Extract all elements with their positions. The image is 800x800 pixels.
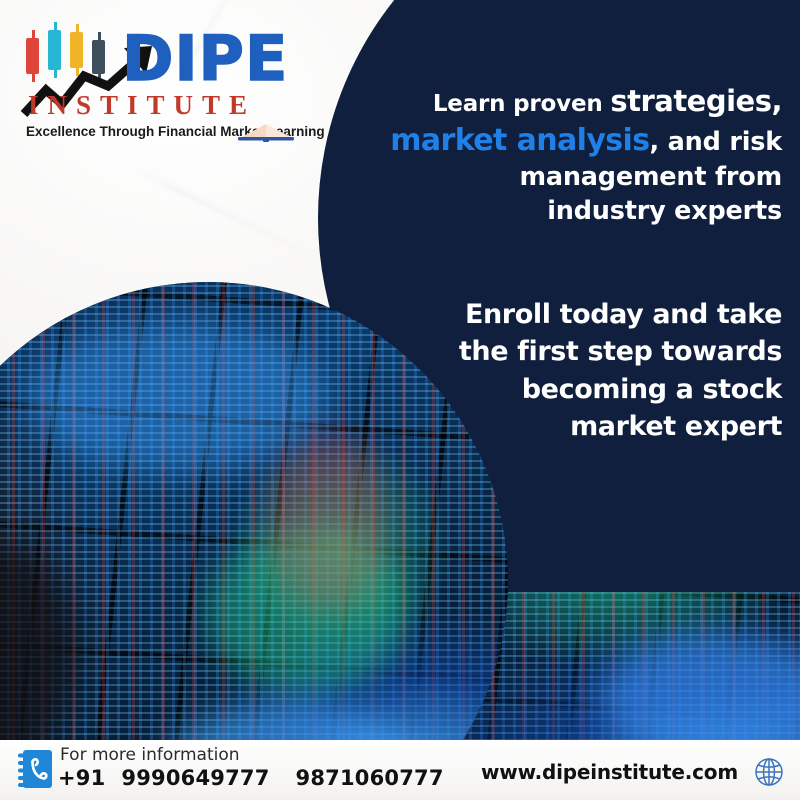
headline-line-1: Learn proven strategies, xyxy=(352,82,782,121)
brand-logo: DIPE INSTITUTE Excellence Through Financ… xyxy=(10,14,310,134)
subheadline-line-2: the first step towards xyxy=(430,333,782,370)
phone-number-2[interactable]: 9871060777 xyxy=(296,766,444,790)
contact-numbers[interactable]: +9199906497779871060777 xyxy=(58,766,444,790)
phone-number-1[interactable]: 9990649777 xyxy=(121,766,269,790)
globe-icon[interactable] xyxy=(754,757,784,787)
subheadline-line-4: market expert xyxy=(430,408,782,445)
headline-lead: Learn proven xyxy=(433,91,610,117)
open-book-icon xyxy=(238,118,294,142)
headline-line-2: market analysis, and risk xyxy=(352,121,782,161)
headline-block: Learn proven strategies, market analysis… xyxy=(352,82,782,229)
logo-subword: INSTITUTE xyxy=(28,92,256,119)
country-code: +91 xyxy=(58,766,105,790)
headline-emphasis: strategies, xyxy=(610,84,782,118)
subheadline-line-1: Enroll today and take xyxy=(430,296,782,333)
headline-line-3: management from xyxy=(352,161,782,195)
headline-line-2-rest: , and risk xyxy=(649,127,782,157)
subheadline-line-3: becoming a stock xyxy=(430,371,782,408)
promo-poster: DIPE INSTITUTE Excellence Through Financ… xyxy=(0,0,800,800)
website-url[interactable]: www.dipeinstitute.com xyxy=(481,760,738,784)
headline-accent: market analysis xyxy=(390,123,649,158)
logo-wordmark: DIPE xyxy=(122,28,288,90)
phone-contact-icon[interactable] xyxy=(18,750,52,788)
subheadline-block: Enroll today and take the first step tow… xyxy=(430,296,782,445)
headline-line-4: industry experts xyxy=(352,195,782,229)
contact-label: For more information xyxy=(60,745,240,765)
